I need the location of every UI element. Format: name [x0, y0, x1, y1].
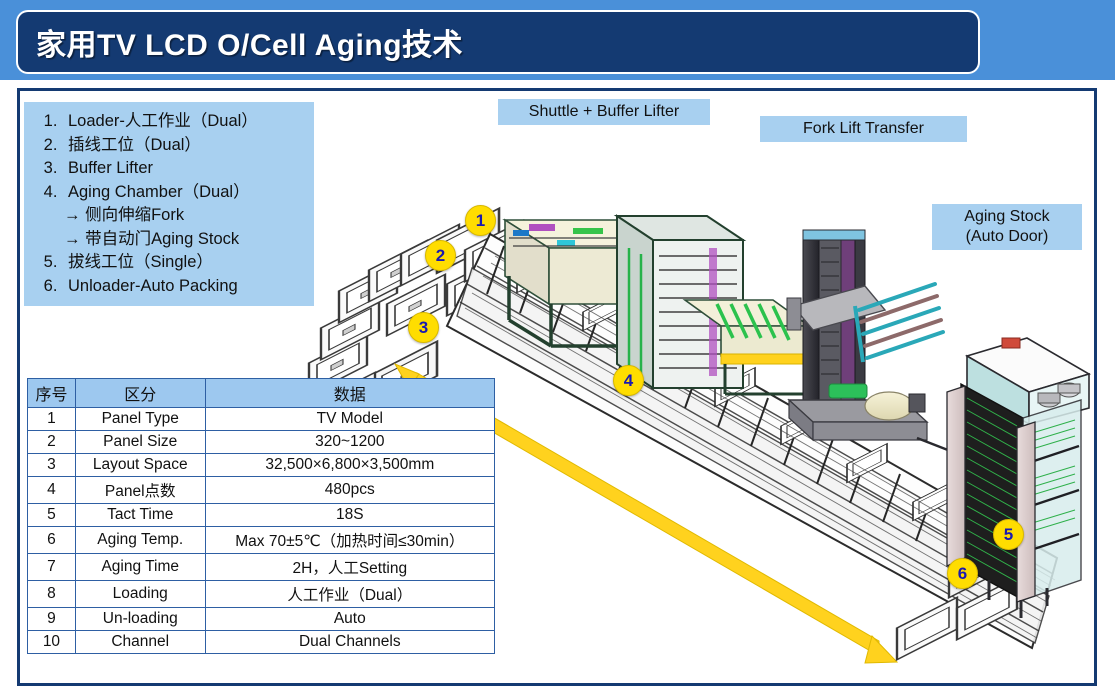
table-row: 6 Aging Temp. Max 70±5℃（加热时间≤30min） [28, 527, 495, 554]
cell-category: Panel Size [75, 431, 205, 454]
list-item: 拔线工位（Single） [62, 251, 308, 275]
cell-category: Aging Time [75, 554, 205, 581]
cell-category: Panel Type [75, 408, 205, 431]
step-marker-4: 4 [613, 365, 644, 396]
cell-value: Dual Channels [205, 631, 494, 654]
step-marker-3: 3 [408, 312, 439, 343]
list-item: Loader-人工作业（Dual） [62, 110, 308, 134]
spec-table: 序号 区分 数据 1 Panel Type TV Model 2 Panel S… [27, 378, 495, 654]
cell-no: 9 [28, 608, 76, 631]
cell-no: 3 [28, 454, 76, 477]
step-marker-5: 5 [993, 519, 1024, 550]
callout-shuttle-buffer-lifter: Shuttle + Buffer Lifter [498, 99, 710, 125]
table-row: 10 Channel Dual Channels [28, 631, 495, 654]
cell-no: 4 [28, 477, 76, 504]
step-marker-6: 6 [947, 558, 978, 589]
cell-category: Channel [75, 631, 205, 654]
table-row: 5 Tact Time 18S [28, 504, 495, 527]
cell-value: Max 70±5℃（加热时间≤30min） [205, 527, 494, 554]
cell-value: 18S [205, 504, 494, 527]
cell-category: Panel点数 [75, 477, 205, 504]
slide-root: 家用TV LCD O/Cell Aging技术 [0, 0, 1115, 698]
cell-value: 32,500×6,800×3,500mm [205, 454, 494, 477]
cell-category: Un-loading [75, 608, 205, 631]
cell-no: 7 [28, 554, 76, 581]
callout-fork-lift-transfer: Fork Lift Transfer [760, 116, 967, 142]
cell-value: Auto [205, 608, 494, 631]
cell-no: 1 [28, 408, 76, 431]
cell-category: Aging Temp. [75, 527, 205, 554]
list-item: Unloader-Auto Packing [62, 275, 308, 299]
table-row: 8 Loading 人工作业（Dual） [28, 581, 495, 608]
table-row: 7 Aging Time 2H，人工Setting [28, 554, 495, 581]
cell-value: 2H，人工Setting [205, 554, 494, 581]
column-header-value: 数据 [205, 379, 494, 408]
callout-aging-stock: Aging Stock (Auto Door) [932, 204, 1082, 250]
cell-category: Tact Time [75, 504, 205, 527]
table-row: 9 Un-loading Auto [28, 608, 495, 631]
cell-value: 人工作业（Dual） [205, 581, 494, 608]
column-header-no: 序号 [28, 379, 76, 408]
cell-no: 8 [28, 581, 76, 608]
sub-list-item: → 带自动门Aging Stock [64, 228, 308, 252]
cell-value: 480pcs [205, 477, 494, 504]
process-step-list: Loader-人工作业（Dual） 插线工位（Dual） Buffer Lift… [24, 102, 314, 306]
step-marker-1: 1 [465, 205, 496, 236]
page-title: 家用TV LCD O/Cell Aging技术 [18, 20, 463, 64]
step-marker-2: 2 [425, 240, 456, 271]
cell-value: TV Model [205, 408, 494, 431]
table-row: 1 Panel Type TV Model [28, 408, 495, 431]
table-row: 3 Layout Space 32,500×6,800×3,500mm [28, 454, 495, 477]
cell-no: 10 [28, 631, 76, 654]
cell-category: Loading [75, 581, 205, 608]
column-header-category: 区分 [75, 379, 205, 408]
table-row: 4 Panel点数 480pcs [28, 477, 495, 504]
table-row: 2 Panel Size 320~1200 [28, 431, 495, 454]
sub-list-item: → 侧向伸缩Fork [64, 204, 308, 228]
cell-no: 6 [28, 527, 76, 554]
list-item: Buffer Lifter [62, 157, 308, 181]
table-header-row: 序号 区分 数据 [28, 379, 495, 408]
title-box: 家用TV LCD O/Cell Aging技术 [18, 12, 978, 72]
cell-no: 5 [28, 504, 76, 527]
cell-value: 320~1200 [205, 431, 494, 454]
list-item: 插线工位（Dual） [62, 134, 308, 158]
cell-category: Layout Space [75, 454, 205, 477]
list-item: Aging Chamber（Dual） [62, 181, 308, 205]
cell-no: 2 [28, 431, 76, 454]
